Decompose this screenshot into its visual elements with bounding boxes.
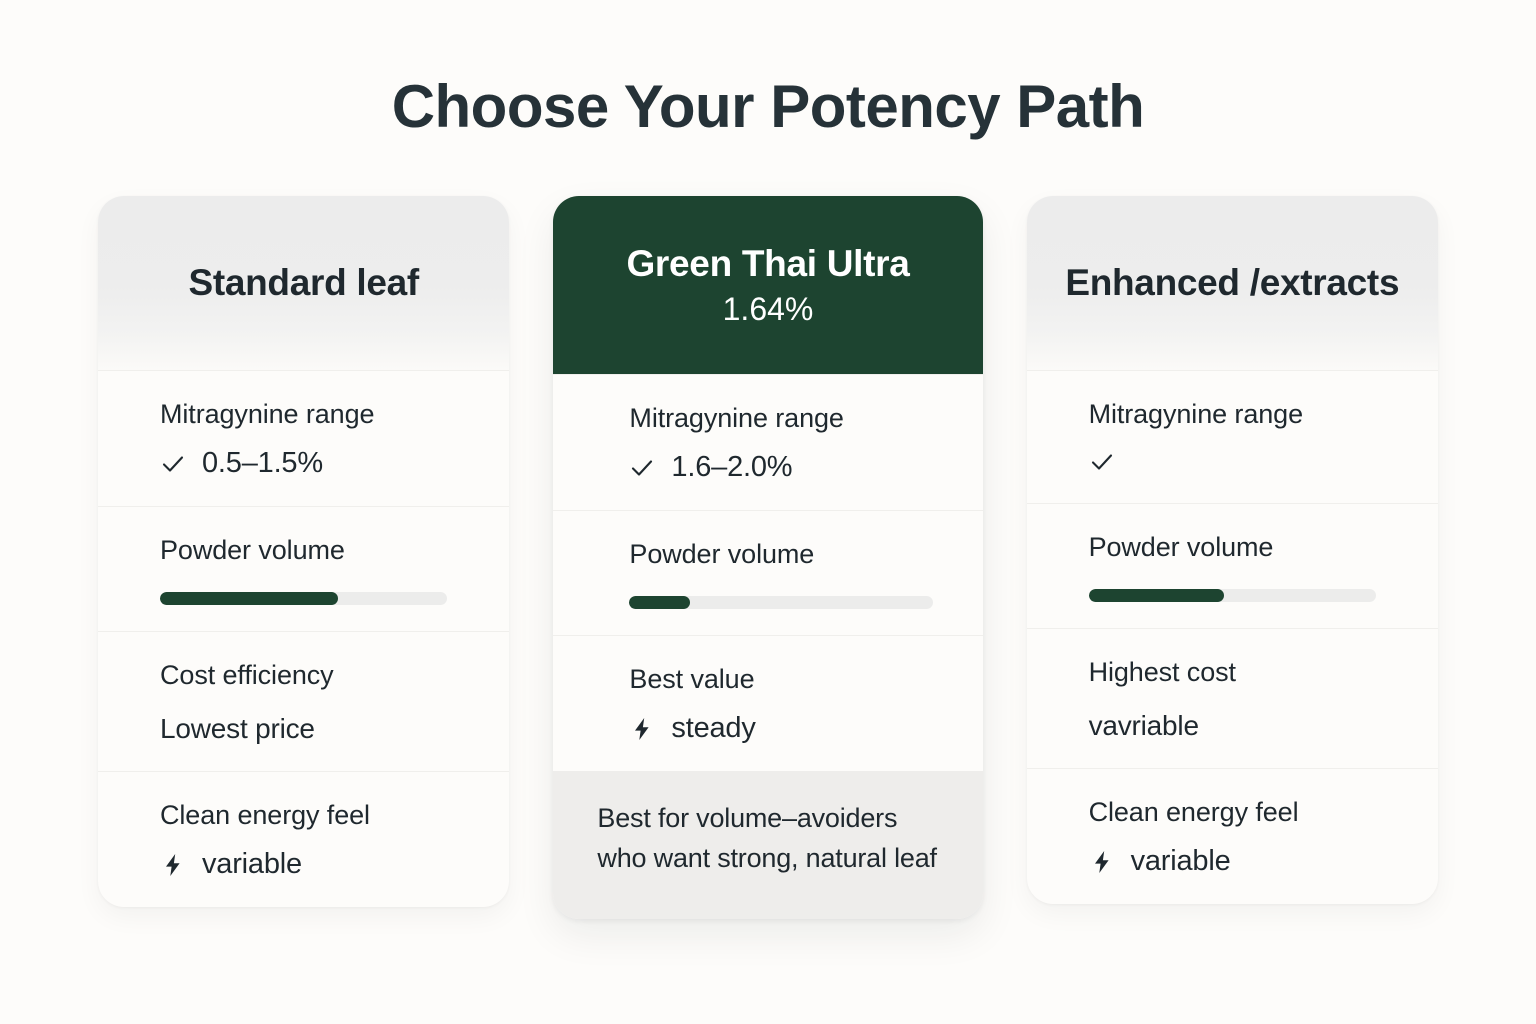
- check-icon: [629, 455, 655, 481]
- check-icon: [160, 451, 186, 477]
- card-title: Standard leaf: [188, 262, 419, 304]
- row-value: vavriable: [1089, 710, 1376, 742]
- powder-volume-bar-track: [1089, 589, 1376, 602]
- card-enhanced-extracts[interactable]: Enhanced /extracts Mitragynine range Pow…: [1027, 196, 1438, 904]
- row-value: variable: [1089, 845, 1376, 878]
- powder-volume-bar-track: [629, 596, 932, 609]
- card-footer-callout: Best for volume–avoiders who want strong…: [553, 771, 982, 919]
- row-label: Powder volume: [1089, 532, 1376, 563]
- powder-volume-bar-fill: [160, 592, 338, 605]
- row-value: steady: [629, 712, 932, 745]
- row-value: 0.5–1.5%: [160, 447, 447, 480]
- row-best-value: Best value steady: [553, 635, 982, 771]
- row-value-text: steady: [671, 712, 755, 745]
- bolt-icon: [629, 716, 655, 742]
- row-powder-volume: Powder volume: [1027, 503, 1438, 628]
- powder-volume-bar-fill: [629, 596, 690, 609]
- row-value-text: vavriable: [1089, 710, 1199, 742]
- row-label: Powder volume: [160, 535, 447, 566]
- row-label: Mitragynine range: [160, 399, 447, 430]
- card-inner: Enhanced /extracts Mitragynine range Pow…: [1027, 196, 1438, 904]
- comparison-page: Choose Your Potency Path Standard leaf M…: [0, 0, 1536, 1024]
- row-value-text: variable: [202, 848, 302, 881]
- row-mitragynine-range: Mitragynine range 0.5–1.5%: [98, 370, 509, 506]
- row-value-text: 0.5–1.5%: [202, 447, 323, 480]
- card-subtitle-potency: 1.64%: [723, 291, 814, 328]
- card-header-green-thai-ultra: Green Thai Ultra 1.64%: [553, 196, 982, 374]
- powder-volume-bar-track: [160, 592, 447, 605]
- check-icon: [1089, 449, 1115, 475]
- pricing-card-row: Standard leaf Mitragynine range 0.5–1.5%…: [98, 196, 1438, 956]
- row-label: Best value: [629, 664, 932, 695]
- row-value-text: variable: [1131, 845, 1231, 878]
- row-clean-energy-feel: Clean energy feel variable: [98, 771, 509, 907]
- row-label: Cost efficiency: [160, 660, 447, 691]
- row-label: Mitragynine range: [629, 403, 932, 434]
- card-inner: Green Thai Ultra 1.64% Mitragynine range…: [553, 196, 982, 771]
- card-title: Enhanced /extracts: [1065, 262, 1399, 304]
- row-value: 1.6–2.0%: [629, 451, 932, 484]
- card-header-standard-leaf: Standard leaf: [98, 196, 509, 370]
- footer-line-2: who want strong, natural leaf: [597, 839, 978, 879]
- row-label: Mitragynine range: [1089, 399, 1376, 430]
- footer-line-1: Best for volume–avoiders: [597, 799, 978, 839]
- row-label: Clean energy feel: [1089, 797, 1376, 828]
- row-powder-volume: Powder volume: [98, 506, 509, 631]
- row-label: Highest cost: [1089, 657, 1376, 688]
- row-label: Powder volume: [629, 539, 932, 570]
- row-value: Lowest price: [160, 713, 447, 745]
- row-highest-cost: Highest cost vavriable: [1027, 628, 1438, 768]
- row-value-text: 1.6–2.0%: [671, 451, 792, 484]
- bolt-icon: [1089, 849, 1115, 875]
- row-value: variable: [160, 848, 447, 881]
- row-value-text: Lowest price: [160, 713, 315, 745]
- powder-volume-bar-fill: [1089, 589, 1224, 602]
- row-mitragynine-range: Mitragynine range 1.6–2.0%: [553, 374, 982, 510]
- card-green-thai-ultra[interactable]: Green Thai Ultra 1.64% Mitragynine range…: [553, 196, 982, 919]
- card-standard-leaf[interactable]: Standard leaf Mitragynine range 0.5–1.5%…: [98, 196, 509, 907]
- page-title: Choose Your Potency Path: [0, 72, 1536, 141]
- row-label: Clean energy feel: [160, 800, 447, 831]
- card-title: Green Thai Ultra: [626, 243, 909, 285]
- row-cost-efficiency: Cost efficiency Lowest price: [98, 631, 509, 771]
- row-clean-energy-feel: Clean energy feel variable: [1027, 768, 1438, 904]
- row-value: [1089, 447, 1376, 477]
- bolt-icon: [160, 852, 186, 878]
- card-header-enhanced-extracts: Enhanced /extracts: [1027, 196, 1438, 370]
- row-powder-volume: Powder volume: [553, 510, 982, 635]
- row-mitragynine-range: Mitragynine range: [1027, 370, 1438, 503]
- card-inner: Standard leaf Mitragynine range 0.5–1.5%…: [98, 196, 509, 907]
